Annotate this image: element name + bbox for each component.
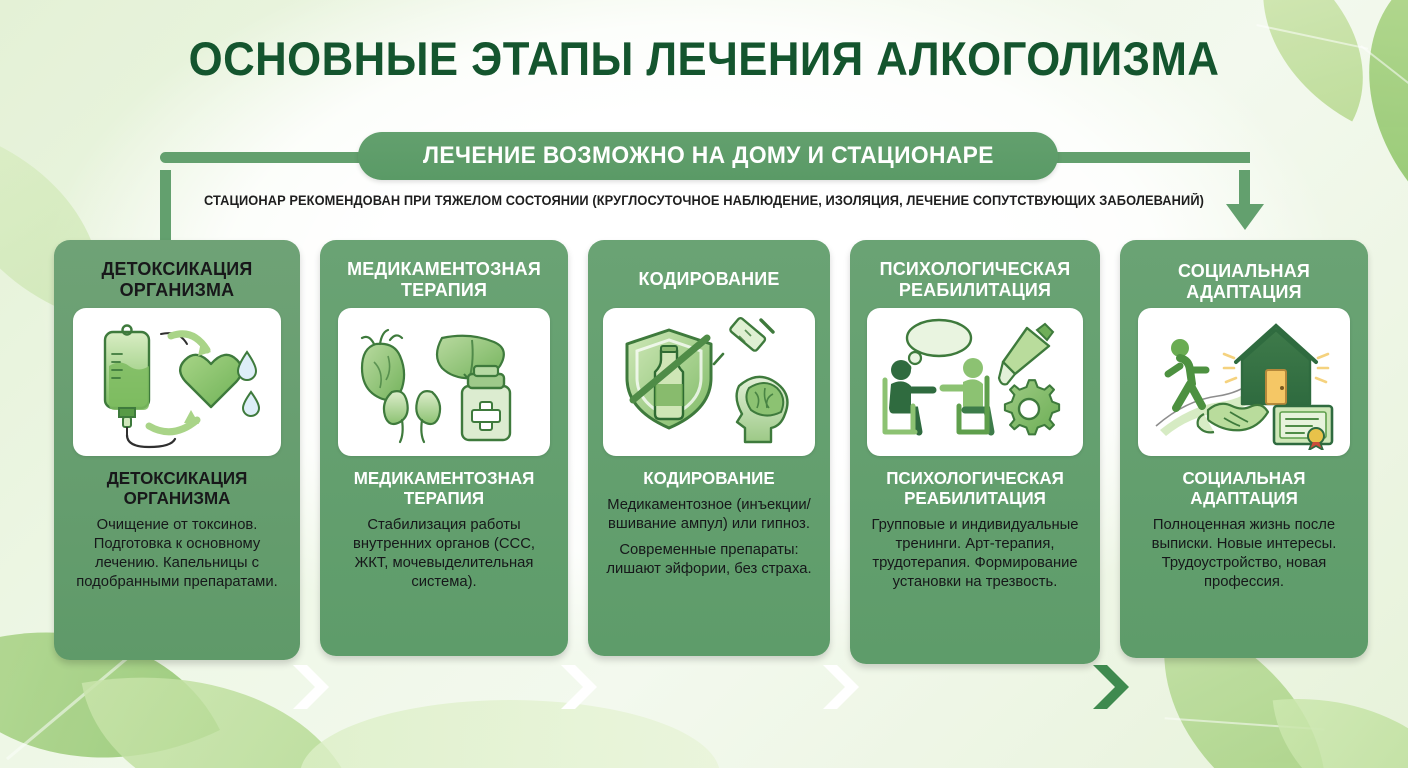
arrow-chevron-2-icon xyxy=(561,665,603,709)
shield-no-alcohol-syringe-brain-icon xyxy=(603,308,815,456)
stage-card-header: ПСИХОЛОГИЧЕСКАЯ РЕАБИЛИТАЦИЯ xyxy=(863,254,1086,302)
stages-row: ДЕТОКСИКАЦИЯ ОРГАНИЗМА xyxy=(0,240,1408,670)
stage-card-body-line2: Современные препараты: лишают эйфории, б… xyxy=(604,541,814,579)
stage-card-header: КОДИРОВАНИЕ xyxy=(601,254,816,302)
stage-card-socialnaya-adaptaciya[interactable]: СОЦИАЛЬНАЯ АДАПТАЦИЯ xyxy=(1120,240,1368,658)
stage-card-body: Групповые и индивидуальные тренинги. Арт… xyxy=(860,516,1090,592)
stage-card-body-line1: Стабилизация работы внутренних органов (… xyxy=(336,516,552,592)
arrow-chevron-3-icon xyxy=(823,665,865,709)
stage-card-header: СОЦИАЛЬНАЯ АДАПТАЦИЯ xyxy=(1133,254,1354,302)
stage-card-body-line1: Очищение от токсинов. Подготовка к основ… xyxy=(70,516,284,592)
banner-pill: ЛЕЧЕНИЕ ВОЗМОЖНО НА ДОМУ И СТАЦИОНАРЕ xyxy=(358,132,1058,180)
stage-card-subtitle: ПСИХОЛОГИЧЕСКАЯ РЕАБИЛИТАЦИЯ xyxy=(863,469,1086,509)
connector-line-left-vertical xyxy=(160,170,171,248)
page-title: ОСНОВНЫЕ ЭТАПЫ ЛЕЧЕНИЯ АЛКОГОЛИЗМА xyxy=(49,34,1358,83)
stage-card-subtitle: МЕДИКАМЕНТОЗНАЯ ТЕРАПИЯ xyxy=(333,469,554,509)
stage-card-body-line1: Медикаментозное (инъекции/вшивание ампул… xyxy=(604,496,814,534)
person-house-handshake-certificate-icon xyxy=(1138,308,1350,456)
stage-card-medikamentoznaya-terapiya[interactable]: МЕДИКАМЕНТОЗНАЯ ТЕРАПИЯ xyxy=(320,240,568,656)
stage-card-subtitle: КОДИРОВАНИЕ xyxy=(601,469,816,489)
stage-card-psihologicheskaya-reabilitaciya[interactable]: ПСИХОЛОГИЧЕСКАЯ РЕАБИЛИТАЦИЯ xyxy=(850,240,1100,664)
iv-drip-heart-droplets-icon xyxy=(73,308,281,456)
stage-card-body: Полноценная жизнь после выписки. Новые и… xyxy=(1130,516,1358,592)
stage-card-subtitle: СОЦИАЛЬНАЯ АДАПТАЦИЯ xyxy=(1133,469,1354,509)
arrow-chevron-1-icon xyxy=(293,665,335,709)
banner-label: ЛЕЧЕНИЕ ВОЗМОЖНО НА ДОМУ И СТАЦИОНАРЕ xyxy=(423,142,994,170)
therapy-session-brush-gear-icon xyxy=(867,308,1083,456)
banner-note: СТАЦИОНАР РЕКОМЕНДОВАН ПРИ ТЯЖЕЛОМ СОСТО… xyxy=(35,193,1373,208)
stage-card-subtitle: ДЕТОКСИКАЦИЯ ОРГАНИЗМА xyxy=(67,469,286,509)
stage-card-detoxikaciya[interactable]: ДЕТОКСИКАЦИЯ ОРГАНИЗМА xyxy=(54,240,300,660)
stage-card-kodirovanie[interactable]: КОДИРОВАНИЕ xyxy=(588,240,830,656)
stage-card-header: МЕДИКАМЕНТОЗНАЯ ТЕРАПИЯ xyxy=(333,254,554,302)
stage-card-body: Очищение от токсинов. Подготовка к основ… xyxy=(64,516,290,592)
infographic-poster: ОСНОВНЫЕ ЭТАПЫ ЛЕЧЕНИЯ АЛКОГОЛИЗМА ЛЕЧЕН… xyxy=(0,0,1408,768)
stage-card-body-line1: Групповые и индивидуальные тренинги. Арт… xyxy=(866,516,1084,592)
arrow-chevron-4-icon xyxy=(1093,665,1135,709)
stage-card-body-line1: Полноценная жизнь после выписки. Новые и… xyxy=(1136,516,1352,592)
stage-card-body: Медикаментозное (инъекции/вшивание ампул… xyxy=(598,496,820,579)
stage-card-header: ДЕТОКСИКАЦИЯ ОРГАНИЗМА xyxy=(67,254,286,302)
heart-liver-kidneys-pillbottle-icon xyxy=(338,308,550,456)
stage-card-body: Стабилизация работы внутренних органов (… xyxy=(330,516,558,592)
